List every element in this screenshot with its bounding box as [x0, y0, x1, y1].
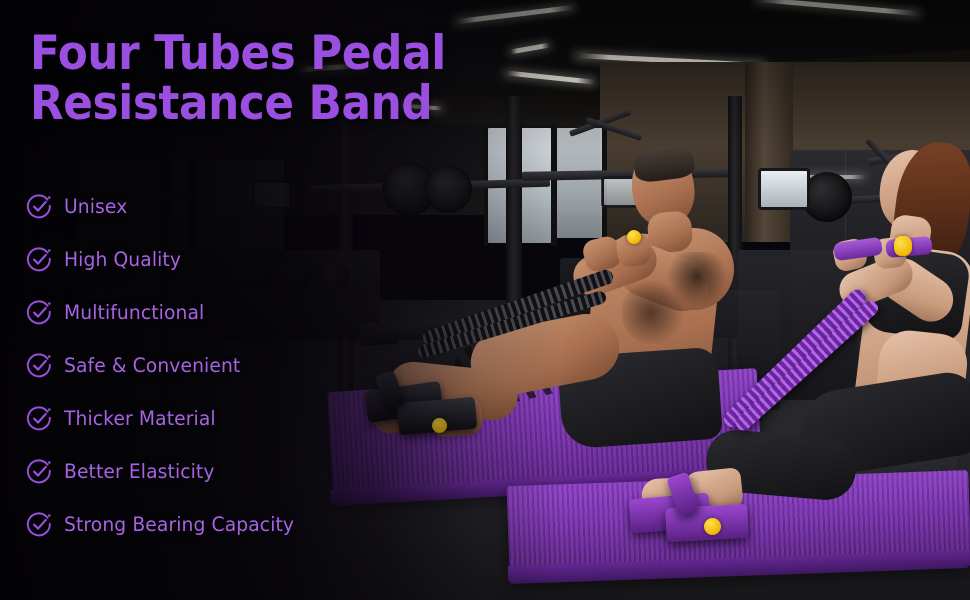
check-circle-icon — [26, 352, 53, 379]
feature-label: Thicker Material — [64, 407, 216, 430]
feature-item-1: High Quality — [26, 233, 526, 286]
check-circle-icon — [26, 193, 53, 220]
product-banner: Four Tubes Pedal Resistance Band Unisex … — [0, 0, 970, 600]
feature-item-2: Multifunctional — [26, 286, 526, 339]
feature-label: Better Elasticity — [64, 460, 215, 483]
feature-item-5: Better Elasticity — [26, 445, 526, 498]
check-circle-icon — [26, 246, 53, 273]
feature-label: Unisex — [64, 195, 127, 218]
check-circle-icon — [26, 458, 53, 485]
page-title: Four Tubes Pedal Resistance Band — [30, 29, 467, 129]
feature-label: High Quality — [64, 248, 181, 271]
feature-label: Multifunctional — [64, 301, 204, 324]
feature-item-0: Unisex — [26, 180, 526, 233]
check-circle-icon — [26, 405, 53, 432]
feature-label: Safe & Convenient — [64, 354, 240, 377]
feature-item-3: Safe & Convenient — [26, 339, 526, 392]
feature-label: Strong Bearing Capacity — [64, 513, 294, 536]
feature-list: Unisex High Quality Multifunctional — [26, 180, 526, 551]
feature-item-4: Thicker Material — [26, 392, 526, 445]
text-content-panel: Four Tubes Pedal Resistance Band Unisex … — [0, 0, 560, 600]
title-line-1: Four Tubes Pedal — [30, 26, 446, 81]
feature-item-6: Strong Bearing Capacity — [26, 498, 526, 551]
check-circle-icon — [26, 299, 53, 326]
title-line-2: Resistance Band — [30, 76, 432, 131]
check-circle-icon — [26, 511, 53, 538]
